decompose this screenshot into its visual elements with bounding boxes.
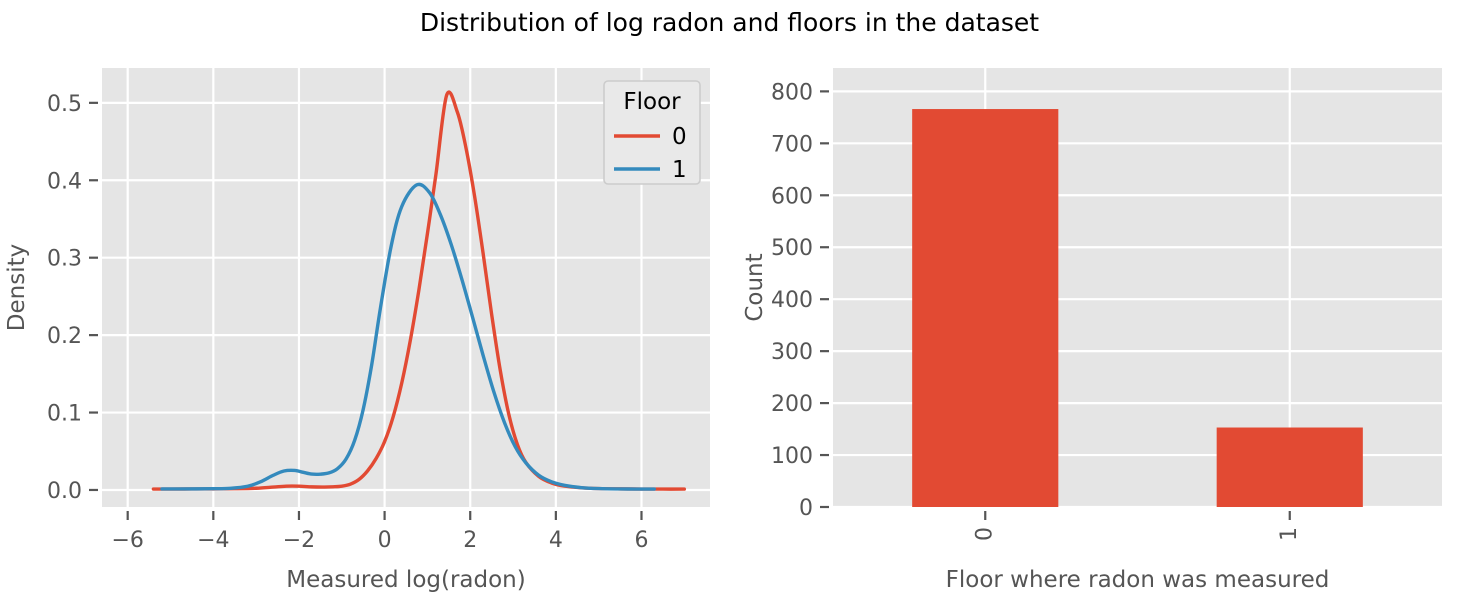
x-tick-label: 6 <box>634 528 648 553</box>
x-tick-label: 4 <box>549 528 563 553</box>
legend-label-floor-1: 1 <box>672 157 687 183</box>
y-tick-label: 0.2 <box>47 324 82 349</box>
y-axis-label: Count <box>742 253 768 321</box>
y-tick-label: 100 <box>771 444 813 469</box>
x-tick-label: −4 <box>197 528 229 553</box>
y-tick-label: 800 <box>771 80 813 105</box>
y-tick-label: 0.5 <box>47 92 82 117</box>
x-tick-label: 2 <box>463 528 477 553</box>
figure-canvas: Distribution of log radon and floors in … <box>0 0 1459 592</box>
x-tick-label: −6 <box>111 528 143 553</box>
y-tick-label: 600 <box>771 184 813 209</box>
count-plot-svg: 010020030040050060070080001Floor where r… <box>740 48 1459 592</box>
bar-floor-0 <box>912 109 1058 507</box>
count-panel: 010020030040050060070080001Floor where r… <box>740 48 1459 592</box>
y-tick-label: 500 <box>771 236 813 261</box>
kde-panel: −6−4−202460.00.10.20.30.40.5Measured log… <box>0 48 740 592</box>
y-tick-label: 0.1 <box>47 402 82 427</box>
x-tick-label: 0 <box>972 527 997 541</box>
x-tick-label: 1 <box>1277 527 1302 541</box>
y-axis-label: Density <box>4 244 30 331</box>
x-axis-label: Measured log(radon) <box>286 567 525 592</box>
kde-plot-svg: −6−4−202460.00.10.20.30.40.5Measured log… <box>0 48 740 592</box>
y-tick-label: 400 <box>771 288 813 313</box>
y-tick-label: 300 <box>771 340 813 365</box>
x-tick-label: 0 <box>378 528 392 553</box>
y-tick-label: 700 <box>771 132 813 157</box>
legend-title: Floor <box>623 89 681 115</box>
x-axis-label: Floor where radon was measured <box>946 567 1330 592</box>
y-tick-label: 0.0 <box>47 479 82 504</box>
y-tick-label: 0 <box>799 496 813 521</box>
figure-title: Distribution of log radon and floors in … <box>0 8 1459 37</box>
legend-label-floor-0: 0 <box>672 124 687 150</box>
bar-floor-1 <box>1217 428 1363 507</box>
y-tick-label: 0.3 <box>47 247 82 272</box>
y-tick-label: 0.4 <box>47 169 82 194</box>
x-tick-label: −2 <box>283 528 315 553</box>
y-tick-label: 200 <box>771 392 813 417</box>
